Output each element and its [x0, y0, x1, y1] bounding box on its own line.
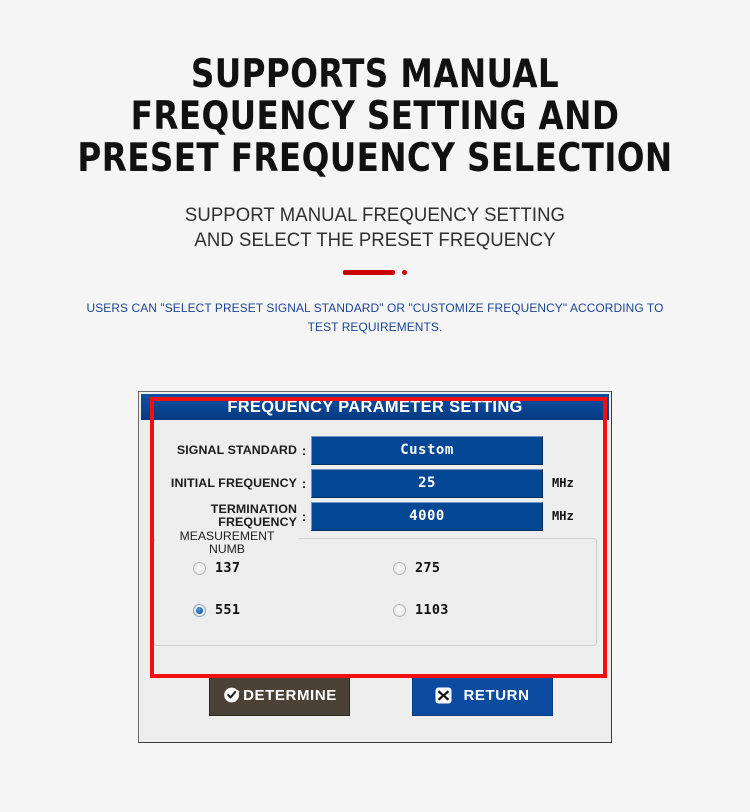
termination-frequency-row: TERMINATION FREQUENCY : 4000 MHz [151, 501, 574, 531]
radio-icon[interactable] [393, 604, 406, 617]
page-subtitle: SUPPORT MANUAL FREQUENCY SETTING AND SEL… [19, 203, 732, 253]
page-subtitle-line-2: AND SELECT THE PRESET FREQUENCY [19, 228, 732, 253]
page-title-line-3: PRESET FREQUENCY SELECTION [26, 138, 724, 180]
divider-bar [343, 270, 395, 275]
frequency-parameter-dialog: FREQUENCY PARAMETER SETTING SIGNAL STAND… [138, 391, 612, 743]
initial-frequency-label: INITIAL FREQUENCY [151, 477, 297, 490]
termination-frequency-unit: MHz [552, 509, 574, 523]
radio-option-label: 1103 [415, 602, 449, 618]
signal-standard-label: SIGNAL STANDARD [151, 444, 297, 457]
note-text: USERS CAN "SELECT PRESET SIGNAL STANDARD… [11, 299, 739, 337]
determine-button-label: DETERMINE [243, 688, 337, 703]
radio-option-label: 137 [215, 560, 240, 576]
page-root: SUPPORTS MANUAL FREQUENCY SETTING AND PR… [0, 0, 750, 812]
termination-frequency-label: TERMINATION FREQUENCY [151, 503, 297, 529]
radio-option-551[interactable]: 551 [193, 602, 240, 618]
close-x-icon [435, 687, 452, 704]
radio-option-label: 275 [415, 560, 440, 576]
signal-standard-input[interactable]: Custom [311, 436, 543, 465]
measurement-number-legend-line-2: NUMB [157, 543, 297, 556]
radio-option-275[interactable]: 275 [393, 560, 440, 576]
page-title: SUPPORTS MANUAL FREQUENCY SETTING AND PR… [26, 54, 724, 180]
radio-option-label: 551 [215, 602, 240, 618]
page-title-line-1: SUPPORTS MANUAL [26, 54, 724, 96]
determine-button[interactable]: DETERMINE [209, 674, 350, 716]
measurement-number-legend: MEASUREMENT NUMB [155, 530, 299, 556]
initial-frequency-colon: : [297, 476, 311, 491]
initial-frequency-input[interactable]: 25 [311, 469, 543, 498]
dialog-title-bar: FREQUENCY PARAMETER SETTING [141, 394, 609, 420]
divider-accent [0, 265, 750, 279]
divider-dot [402, 270, 407, 275]
termination-frequency-input[interactable]: 4000 [311, 502, 543, 531]
radio-icon[interactable] [193, 562, 206, 575]
dialog-title-label: FREQUENCY PARAMETER SETTING [227, 398, 522, 417]
page-title-line-2: FREQUENCY SETTING AND [26, 96, 724, 138]
signal-standard-row: SIGNAL STANDARD : Custom [151, 435, 543, 465]
radio-icon[interactable] [393, 562, 406, 575]
page-subtitle-line-1: SUPPORT MANUAL FREQUENCY SETTING [19, 203, 732, 228]
radio-icon-selected[interactable] [193, 604, 206, 617]
note-text-line-2: TEST REQUIREMENTS. [11, 318, 739, 337]
return-button-label: RETURN [463, 688, 529, 703]
note-text-line-1: USERS CAN "SELECT PRESET SIGNAL STANDARD… [11, 299, 739, 318]
measurement-number-options: 137 275 551 1103 [153, 552, 597, 646]
radio-option-137[interactable]: 137 [193, 560, 240, 576]
termination-frequency-colon: : [297, 509, 311, 524]
signal-standard-colon: : [297, 443, 311, 458]
initial-frequency-row: INITIAL FREQUENCY : 25 MHz [151, 468, 574, 498]
check-icon [222, 685, 242, 705]
return-button[interactable]: RETURN [412, 674, 553, 716]
dialog-form: SIGNAL STANDARD : Custom INITIAL FREQUEN… [141, 420, 609, 742]
dialog-actions: DETERMINE RETURN [143, 670, 611, 722]
radio-option-1103[interactable]: 1103 [393, 602, 449, 618]
initial-frequency-unit: MHz [552, 476, 574, 490]
